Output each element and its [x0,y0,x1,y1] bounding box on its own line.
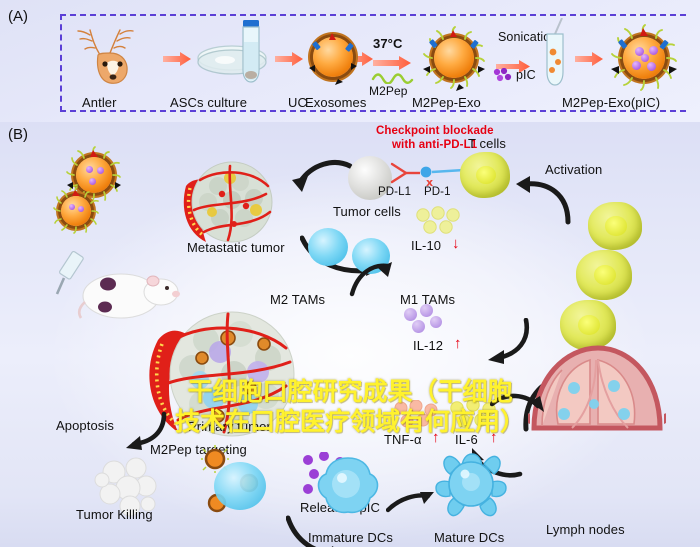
maturation-arrow-icon [386,488,436,516]
flow-arrow-icon [490,390,546,424]
ctl-cell [560,300,616,350]
targeted-macrophage [214,462,266,510]
flow-arrow-icon [288,158,354,200]
tnf-alpha-label: TNF-α [384,432,422,447]
mature-dcs-label: Mature DCs [434,530,504,545]
step-label-m2pep-exo: M2Pep-Exo [412,95,481,110]
exosome-particle [305,29,361,85]
m2-tam-cell [308,228,348,266]
il12-label: IL-12 [413,338,443,353]
tumor-killing-label: Tumor Killing [76,507,153,522]
m2pep-peptide-icon [371,70,415,84]
m2pep-label: M2Pep [369,84,408,98]
flow-arrow-icon [478,318,532,364]
process-arrow-icon [275,52,303,66]
step-label-ascs-culture: ASCs culture [170,95,247,110]
tumor-cells-label: Tumor cells [333,204,401,219]
pic-molecule-icon [492,68,514,82]
il10-label: IL-10 [411,238,441,253]
checkpoint-blockade-line2: with anti-PD-L1 [392,139,477,151]
repolarization-arrow-icon [348,260,394,300]
m2pep-exosome-particle [418,22,490,94]
lymph-nodes-label: Lymph nodes [546,522,625,537]
m2-tams-label: M2 TAMs [270,292,325,307]
apoptosis-arrow-icon [120,410,168,452]
primary-tumor-label: Primary tumor [188,419,271,434]
m2pep-exosome-pic-particle [606,20,682,96]
immature-dcs-label: Immature DCs [308,530,393,545]
process-arrow-icon [575,52,603,66]
panel-a-label: (A) [8,8,28,25]
process-arrow-icon [163,52,191,66]
panel-a: (A) [0,0,700,122]
t-cell [588,202,642,250]
t-cell [460,152,510,198]
figure-canvas: (A) [0,0,700,547]
pd-1-label: PD-1 [424,186,451,198]
t-cell [576,250,632,300]
m1-tam-cell [420,304,433,317]
ultracentrifuge-tube-icon [236,18,266,86]
process-arrow-icon [373,56,411,70]
panel-b-label: (B) [8,126,28,143]
step-label-exosomes: Exosomes [305,95,367,110]
activation-arrow-icon [512,174,574,230]
t-cells-label: T cells [468,136,506,151]
panel-b: (B) [0,122,700,547]
pd-l1-label: PD-L1 [378,186,411,198]
immature-dc-icon [312,450,384,522]
injected-nanoparticle [50,185,102,237]
step-label-antler: Antler [82,95,117,110]
step-label-m2pep-exo-pic: M2Pep-Exo(pIC) [562,95,660,110]
antler-deer-icon [74,25,160,87]
sonicator-tube-icon [540,18,570,88]
mature-dc-icon [432,444,512,522]
m1-tam-cell [404,308,417,321]
il12-up-arrow: ↑ [454,335,462,352]
pic-label: pIC [516,68,536,82]
il10-cytokine-dots [413,206,467,236]
il10-down-arrow: ↓ [452,235,460,252]
metastatic-tumor-label: Metastatic tumor [187,240,285,255]
m1-tam-cell [430,316,442,328]
m1-tam-cell [412,320,425,333]
apoptosis-label: Apoptosis [56,418,114,433]
lymph-node-icon [528,344,666,444]
temperature-label: 37°C [373,36,402,51]
tnf-alpha-dots [392,400,440,430]
